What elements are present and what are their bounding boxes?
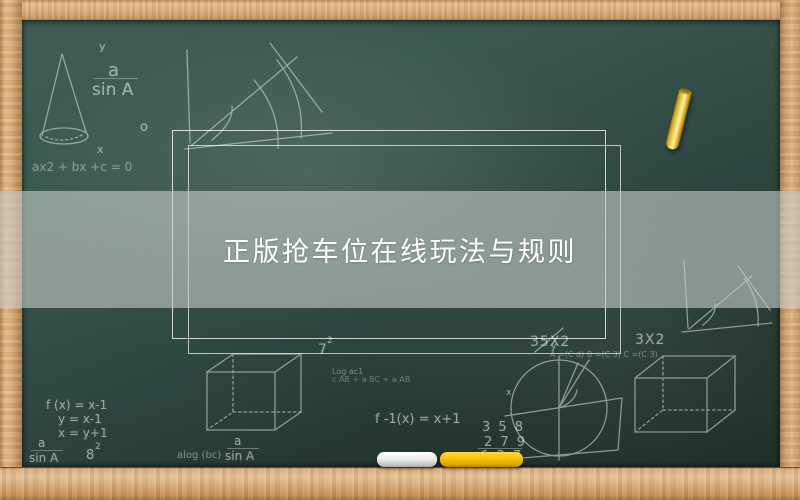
- title-banner: 正版抢车位在线玩法与规则: [0, 191, 800, 308]
- chalk-circle-x-label: x: [506, 388, 511, 398]
- cone-drawing: [40, 54, 88, 144]
- chalk-quadratic-equation: ax2 + bx +c = 0: [32, 160, 132, 174]
- yellow-chalk-icon: [440, 452, 523, 467]
- frame-top-rail: [0, 0, 800, 20]
- frame-bottom-ledge: [0, 467, 800, 500]
- yellow-chalk-stick-icon: [665, 87, 693, 150]
- chalk-axis-y-label: y: [99, 40, 106, 53]
- chalk-3x2: 3X2: [635, 332, 665, 348]
- chalk-sine-den-left: sin A: [29, 451, 58, 465]
- cube-right-drawing: [635, 356, 735, 432]
- chalk-sine-bar-center: [227, 448, 259, 449]
- chalk-sine-num-left: a: [38, 436, 45, 450]
- chalk-fraction-numerator: a: [108, 60, 119, 81]
- chalk-angle-label: o: [140, 120, 148, 135]
- screenshot-root: a sin A y x o ax2 + bx +c = 0 f (x) = x-…: [0, 0, 800, 500]
- chalk-digits-row1: 3 5 8: [482, 420, 525, 435]
- page-title: 正版抢车位在线玩法与规则: [223, 230, 577, 269]
- chalk-alog-bc: alog (bc): [177, 450, 221, 461]
- chalk-axis-x-label: x: [97, 143, 104, 156]
- chalk-eight-exponent: 2: [95, 442, 101, 452]
- chalk-log-ac1: Log ac1: [332, 367, 363, 376]
- chalk-sine-num-center: a: [234, 434, 241, 448]
- chalk-fraction-bar: [94, 78, 138, 79]
- chalk-sine-bar-left: [31, 450, 63, 451]
- chalk-fraction-denominator: sin A: [92, 80, 133, 100]
- chalk-vector-sum: c AB + a BC + a AB: [332, 375, 410, 384]
- cube-left-drawing: [207, 354, 301, 430]
- chalk-fx-line3: x = y+1: [58, 426, 108, 440]
- chalk-sine-den-center: sin A: [225, 449, 254, 463]
- chalk-eight: 8: [86, 448, 94, 463]
- chalk-digits-bar: [478, 448, 522, 449]
- chalk-digits-row2: 2 7 9: [484, 435, 527, 450]
- chalk-fx-line2: y = x-1: [58, 412, 102, 426]
- white-chalk-icon: [377, 452, 437, 467]
- chalk-fx-line1: f (x) = x-1: [46, 398, 107, 412]
- chalk-inverse-function: f -1(x) = x+1: [375, 412, 461, 427]
